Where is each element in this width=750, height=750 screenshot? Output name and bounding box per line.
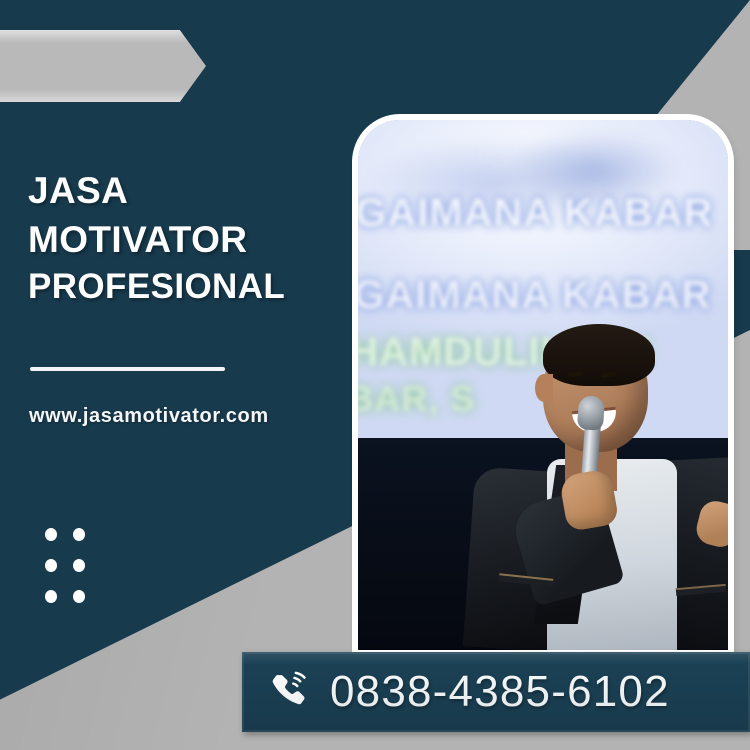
title-line-2: MOTIVATOR [28,215,358,264]
dot [45,559,57,572]
dot [73,590,85,603]
dot [45,590,57,603]
dot [73,528,85,541]
contact-bar[interactable]: 0838-4385-6102 [242,652,750,732]
phone-call-icon [268,670,312,714]
dot [45,528,57,541]
website-url[interactable]: www.jasamotivator.com [29,405,269,428]
ear [535,374,553,402]
poster-canvas: JASA MOTIVATOR PROFESIONAL www.jasamotiv… [0,0,750,750]
title-divider [30,367,225,371]
speaker-figure [358,120,728,650]
microphone-head [577,395,605,431]
decorative-dot-grid [45,528,85,602]
speaker-photo: GAIMANA KABAR GAIMANA KABAR HAMDULILLAH … [358,120,728,650]
phone-number[interactable]: 0838-4385-6102 [330,667,670,717]
page-title: JASA MOTIVATOR PROFESIONAL [28,166,358,311]
title-line-3: PROFESIONAL [28,264,358,311]
title-line-1: JASA [28,166,358,215]
arrow-banner [0,30,206,102]
hair [543,324,655,386]
photo-inner: GAIMANA KABAR GAIMANA KABAR HAMDULILLAH … [358,120,728,650]
dot [73,559,85,572]
